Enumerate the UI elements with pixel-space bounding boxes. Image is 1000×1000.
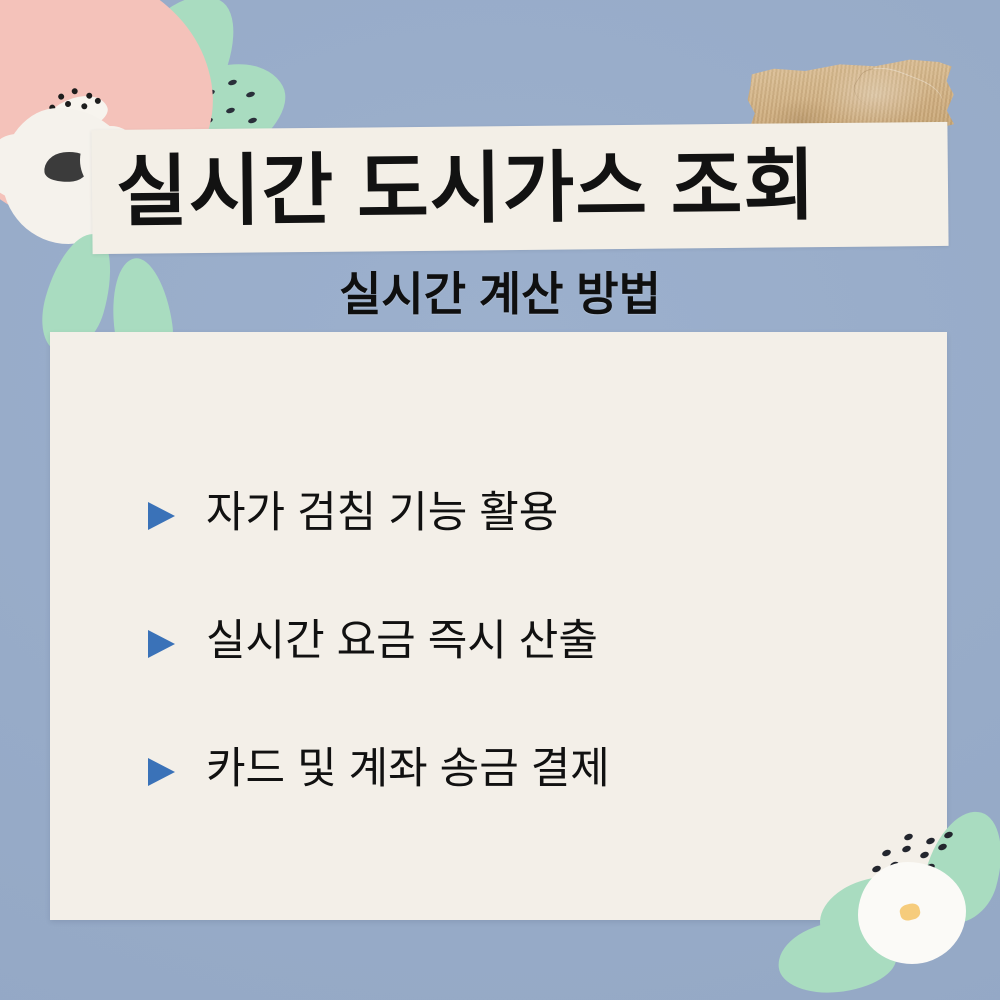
bullet-list: 자가 검침 기능 활용 실시간 요금 즉시 산출 카드 및 계좌 송금 결제 (148, 450, 888, 834)
list-item: 자가 검침 기능 활용 (148, 450, 888, 578)
list-item-label: 실시간 요금 즉시 산출 (206, 617, 598, 666)
white-flower-center (42, 149, 91, 184)
title-banner: 실시간 도시가스 조회 (91, 122, 948, 254)
white-flower-bottom-center (898, 902, 921, 922)
triangle-right-icon (148, 626, 178, 658)
triangle-right-icon (148, 498, 178, 530)
list-item: 실시간 요금 즉시 산출 (148, 578, 888, 706)
tape-crease (845, 60, 951, 130)
page-subtitle: 실시간 계산 방법 (0, 258, 1000, 324)
list-item-label: 자가 검침 기능 활용 (206, 489, 558, 538)
list-item: 카드 및 계좌 송금 결제 (148, 706, 888, 834)
triangle-right-icon (148, 754, 178, 786)
content-card: 자가 검침 기능 활용 실시간 요금 즉시 산출 카드 및 계좌 송금 결제 (50, 332, 947, 920)
poster-canvas: 실시간 도시가스 조회 실시간 계산 방법 자가 검침 기능 활용 실시간 요금… (0, 0, 1000, 1000)
page-title: 실시간 도시가스 조회 (116, 146, 817, 231)
white-flower-bottom-icon (858, 862, 966, 964)
list-item-label: 카드 및 계좌 송금 결제 (206, 745, 610, 794)
